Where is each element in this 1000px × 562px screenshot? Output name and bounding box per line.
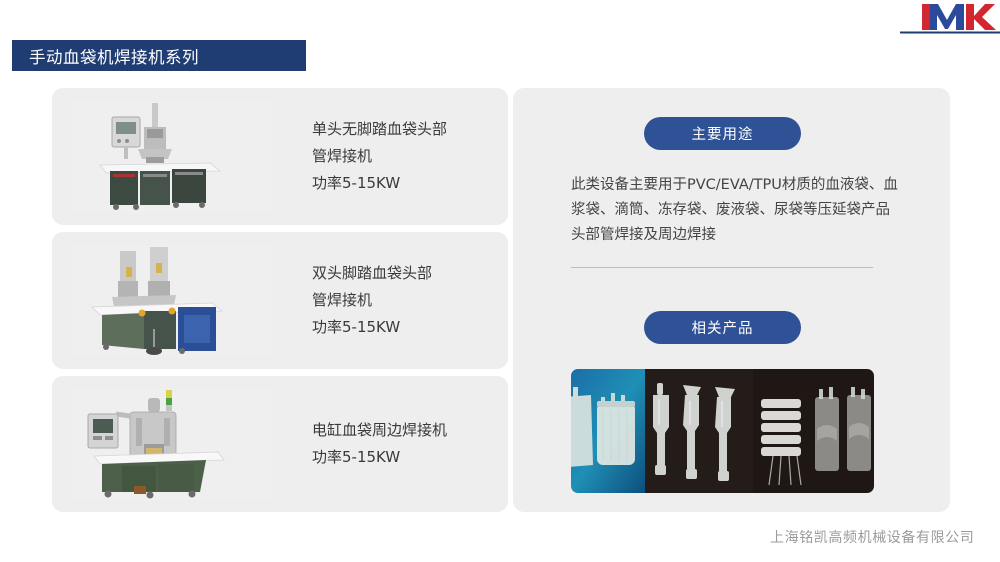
product-card-1[interactable]: 单头无脚踏血袋头部 管焊接机 功率5-15KW — [52, 88, 508, 225]
page-title: 手动血袋机焊接机系列 — [12, 44, 199, 68]
product-card-2-text: 双头脚踏血袋头部 管焊接机 功率5-15KW — [312, 260, 432, 341]
mk-logo — [900, 0, 1000, 34]
main-usage-pill[interactable]: 主要用途 — [644, 117, 801, 150]
related-products-pill[interactable]: 相关产品 — [644, 311, 801, 344]
related-products-photo-strip — [571, 369, 874, 493]
double-head-pedal-welder-photo — [72, 245, 272, 357]
section-divider — [571, 267, 873, 268]
section-header-bar: 手动血袋机焊接机系列 — [12, 40, 306, 71]
product-card-3-text: 电缸血袋周边焊接机 功率5-15KW — [312, 417, 447, 471]
info-panel: 主要用途 此类设备主要用于PVC/EVA/TPU材质的血液袋、血浆袋、滴筒、冻存… — [513, 88, 950, 512]
electric-cylinder-welder-photo — [72, 388, 272, 500]
connector-pouch-photo — [753, 369, 874, 493]
drip-chamber-photo — [645, 369, 753, 493]
product-card-2[interactable]: 双头脚踏血袋头部 管焊接机 功率5-15KW — [52, 232, 508, 369]
related-products-pill-label: 相关产品 — [692, 317, 754, 338]
product-card-1-text: 单头无脚踏血袋头部 管焊接机 功率5-15KW — [312, 116, 447, 197]
usage-description: 此类设备主要用于PVC/EVA/TPU材质的血液袋、血浆袋、滴筒、冻存袋、废液袋… — [571, 173, 901, 248]
company-footer: 上海铭凯高频机械设备有限公司 — [770, 527, 974, 547]
main-usage-pill-label: 主要用途 — [692, 123, 754, 144]
blood-bag-photo — [571, 369, 645, 493]
product-card-3[interactable]: 电缸血袋周边焊接机 功率5-15KW — [52, 376, 508, 512]
single-head-welder-photo — [72, 101, 272, 213]
product-card-list: 单头无脚踏血袋头部 管焊接机 功率5-15KW — [52, 88, 508, 512]
